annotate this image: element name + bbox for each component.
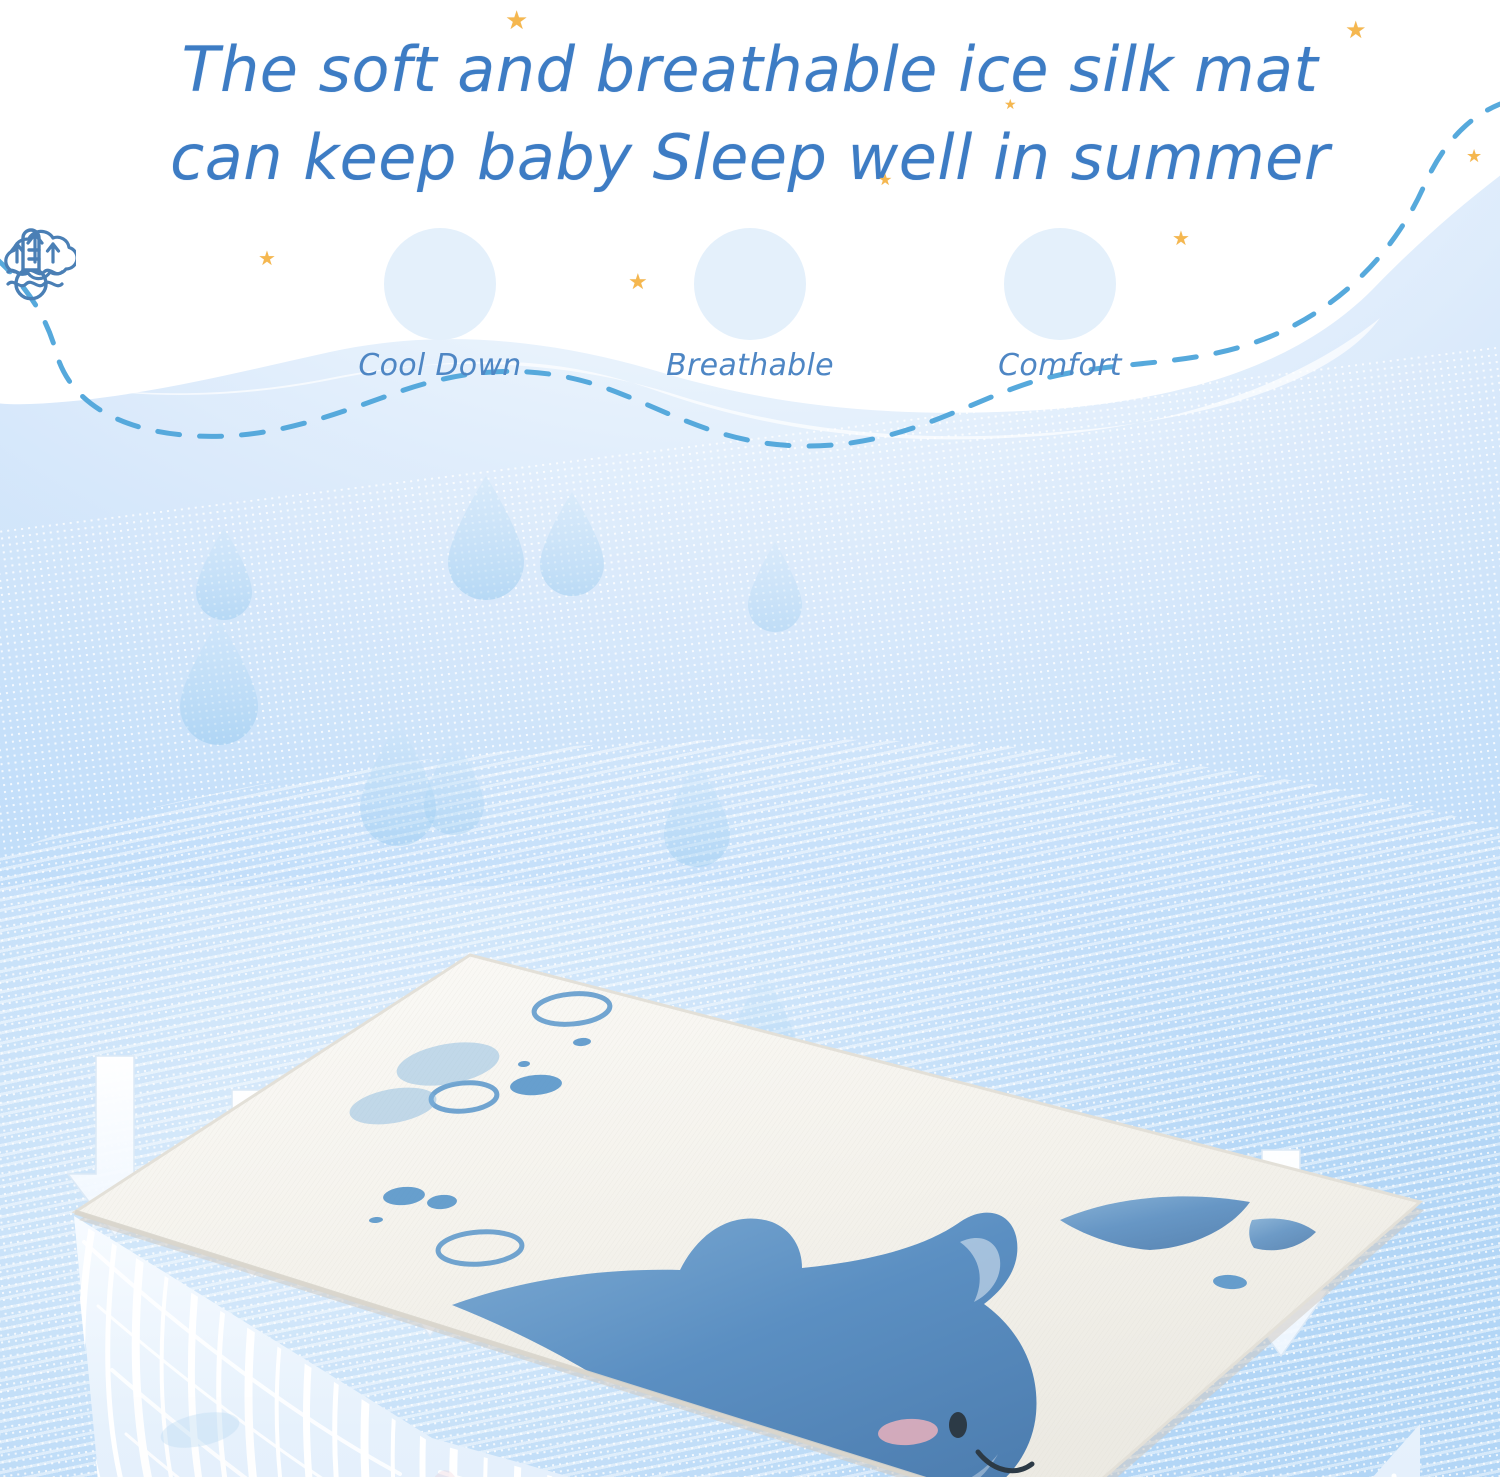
infographic-canvas: The soft and breathable ice silk mat can… [0,0,1500,1477]
headline-line-2: can keep baby Sleep well in summer [0,114,1500,202]
star-icon: ★ [1004,98,1017,112]
feature-row: Cool Down Breathable [0,228,1500,383]
star-icon: ★ [1345,18,1367,42]
whale-eye [949,1412,967,1438]
feature-badge [384,228,496,340]
feature-label: Cool Down [345,348,535,383]
water-droplet-front-group [360,722,484,846]
feature-breathable: Breathable [655,228,845,383]
header-banner: The soft and breathable ice silk mat can… [0,0,1500,470]
star-icon: ★ [1466,148,1482,166]
star-icon: ★ [258,248,276,268]
feature-comfort: Comfort [965,228,1155,383]
star-icon: ★ [878,172,892,188]
headline-line-1: The soft and breathable ice silk mat [182,33,1319,106]
star-icon: ★ [505,8,528,34]
page-headline: The soft and breathable ice silk mat can… [0,26,1500,202]
product-illustration [0,430,1500,1477]
feature-cool-down: Cool Down [345,228,535,383]
feature-badge [1004,228,1116,340]
feature-label: Breathable [655,348,845,383]
feature-label: Comfort [965,348,1155,383]
star-icon: ★ [1172,228,1190,248]
feature-badge [694,228,806,340]
star-icon: ★ [628,272,648,294]
